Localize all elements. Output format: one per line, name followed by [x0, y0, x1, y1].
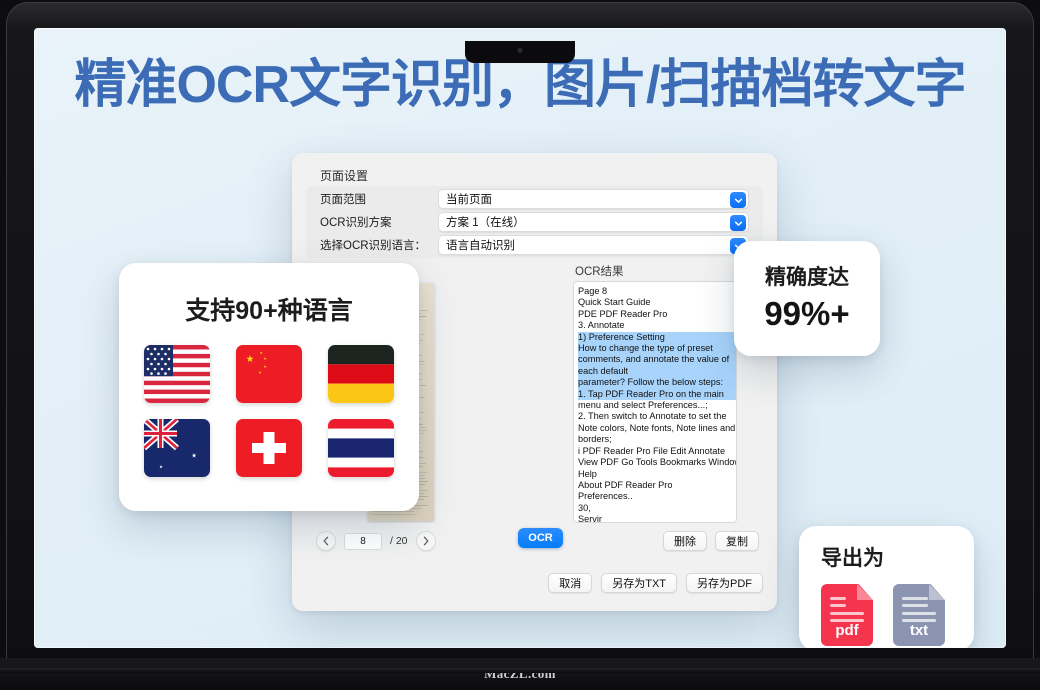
next-page-button[interactable] [416, 531, 436, 551]
languages-card: 支持90+种语言 [119, 263, 419, 511]
ocr-scheme-select[interactable]: 方案 1（在线） [438, 212, 749, 232]
delete-button[interactable]: 删除 [663, 531, 707, 551]
page-range-select[interactable]: 当前页面 [438, 189, 749, 209]
field-row-ocr-language: 选择OCR识别语言： 语言自动识别 [320, 234, 749, 256]
pdf-file-icon[interactable]: pdf [821, 584, 873, 646]
ocr-result-text[interactable]: Page 8Quick Start GuidePDE PDF Reader Pr… [573, 281, 737, 523]
cancel-button[interactable]: 取消 [548, 573, 592, 593]
ocr-result-line: 2. Then switch to Annotate to set the [578, 411, 736, 422]
export-card-title: 导出为 [821, 542, 974, 572]
ocr-result-line: parameter? Follow the below steps: [578, 377, 736, 388]
laptop-base [0, 668, 1040, 673]
ocr-result-line: 1) Preference Setting [578, 332, 736, 343]
ocr-result-line: 30, [578, 503, 736, 514]
field-label: 页面范围 [320, 191, 438, 207]
laptop-chin: MacZL.com [0, 658, 1040, 690]
ocr-result-line: About PDF Reader Pro [578, 480, 736, 491]
txt-file-label: txt [893, 622, 945, 639]
export-file-list: pdf txt [821, 584, 974, 646]
ocr-result-line: i PDF Reader Pro File Edit Annotate [578, 446, 736, 457]
accuracy-card: 精确度达 99%+ [734, 241, 880, 356]
footer-actions: 取消 另存为TXT 另存为PDF [548, 573, 763, 593]
export-card: 导出为 pdf txt [799, 526, 974, 648]
prev-page-button[interactable] [316, 531, 336, 551]
ocr-result-line: 1. Tap PDF Reader Pro on the main [578, 389, 736, 400]
ocr-result-line: Quick Start Guide [578, 297, 736, 308]
ocr-result-line: Servir [578, 514, 736, 523]
page-total-label: / 20 [390, 535, 408, 547]
save-as-txt-button[interactable]: 另存为TXT [601, 573, 677, 593]
result-label: OCR结果 [575, 263, 624, 279]
save-as-pdf-button[interactable]: 另存为PDF [686, 573, 763, 593]
chevron-down-icon[interactable] [730, 215, 746, 231]
languages-card-title: 支持90+种语言 [119, 291, 419, 327]
ocr-result-line: each default [578, 366, 736, 377]
flag-australia [144, 419, 210, 477]
txt-file-icon[interactable]: txt [893, 584, 945, 646]
field-label: 选择OCR识别语言： [320, 237, 438, 253]
copy-button[interactable]: 复制 [715, 531, 759, 551]
field-row-ocr-scheme: OCR识别方案 方案 1（在线） [320, 211, 749, 233]
ocr-result-line: Page 8 [578, 286, 736, 297]
ocr-result-line: 3. Annotate [578, 320, 736, 331]
ocr-language-select[interactable]: 语言自动识别 [438, 235, 749, 255]
field-value: 当前页面 [446, 191, 492, 207]
flag-usa [144, 345, 210, 403]
ocr-result-line: borders; [578, 434, 736, 445]
field-label: OCR识别方案 [320, 214, 438, 230]
screen-notch [465, 41, 575, 63]
flag-germany [328, 345, 394, 403]
laptop-frame: 精准OCR文字识别，图片/扫描档转文字 页面设置 页面范围 当前页面 OCR识别… [0, 0, 1040, 690]
page-settings-group: 页面范围 当前页面 OCR识别方案 方案 1（在线） [306, 186, 763, 258]
field-row-page-range: 页面范围 当前页面 [320, 188, 749, 210]
ocr-result-line: Help [578, 469, 736, 480]
camera-icon [518, 48, 523, 53]
ocr-result-line: comments, and annotate the value of [578, 354, 736, 365]
pager: 8 / 20 [316, 531, 436, 551]
ocr-result-line: Preferences.. [578, 491, 736, 502]
ocr-result-line: PDE PDF Reader Pro [578, 309, 736, 320]
field-value: 语言自动识别 [446, 237, 515, 253]
accuracy-value: 99%+ [734, 295, 880, 333]
pdf-file-label: pdf [821, 622, 873, 639]
accuracy-card-title: 精确度达 [734, 261, 880, 291]
flag-grid [142, 345, 396, 477]
page-number-input[interactable]: 8 [344, 533, 382, 550]
flag-china [236, 345, 302, 403]
ocr-result-line: View PDF Go Tools Bookmarks Window [578, 457, 736, 468]
chevron-down-icon[interactable] [730, 192, 746, 208]
ocr-result-line: menu and select Preferences...; [578, 400, 736, 411]
ocr-result-line: How to change the type of preset [578, 343, 736, 354]
result-actions: 删除 复制 [663, 531, 759, 551]
flag-thailand [328, 419, 394, 477]
section-title: 页面设置 [320, 167, 368, 184]
ocr-result-line: Note colors, Note fonts, Note lines and [578, 423, 736, 434]
flag-switzerland [236, 419, 302, 477]
ocr-run-button[interactable]: OCR [518, 528, 563, 548]
file-corner-fold [857, 584, 873, 600]
file-corner-fold [929, 584, 945, 600]
laptop-screen: 精准OCR文字识别，图片/扫描档转文字 页面设置 页面范围 当前页面 OCR识别… [34, 28, 1006, 648]
field-value: 方案 1（在线） [446, 214, 525, 230]
